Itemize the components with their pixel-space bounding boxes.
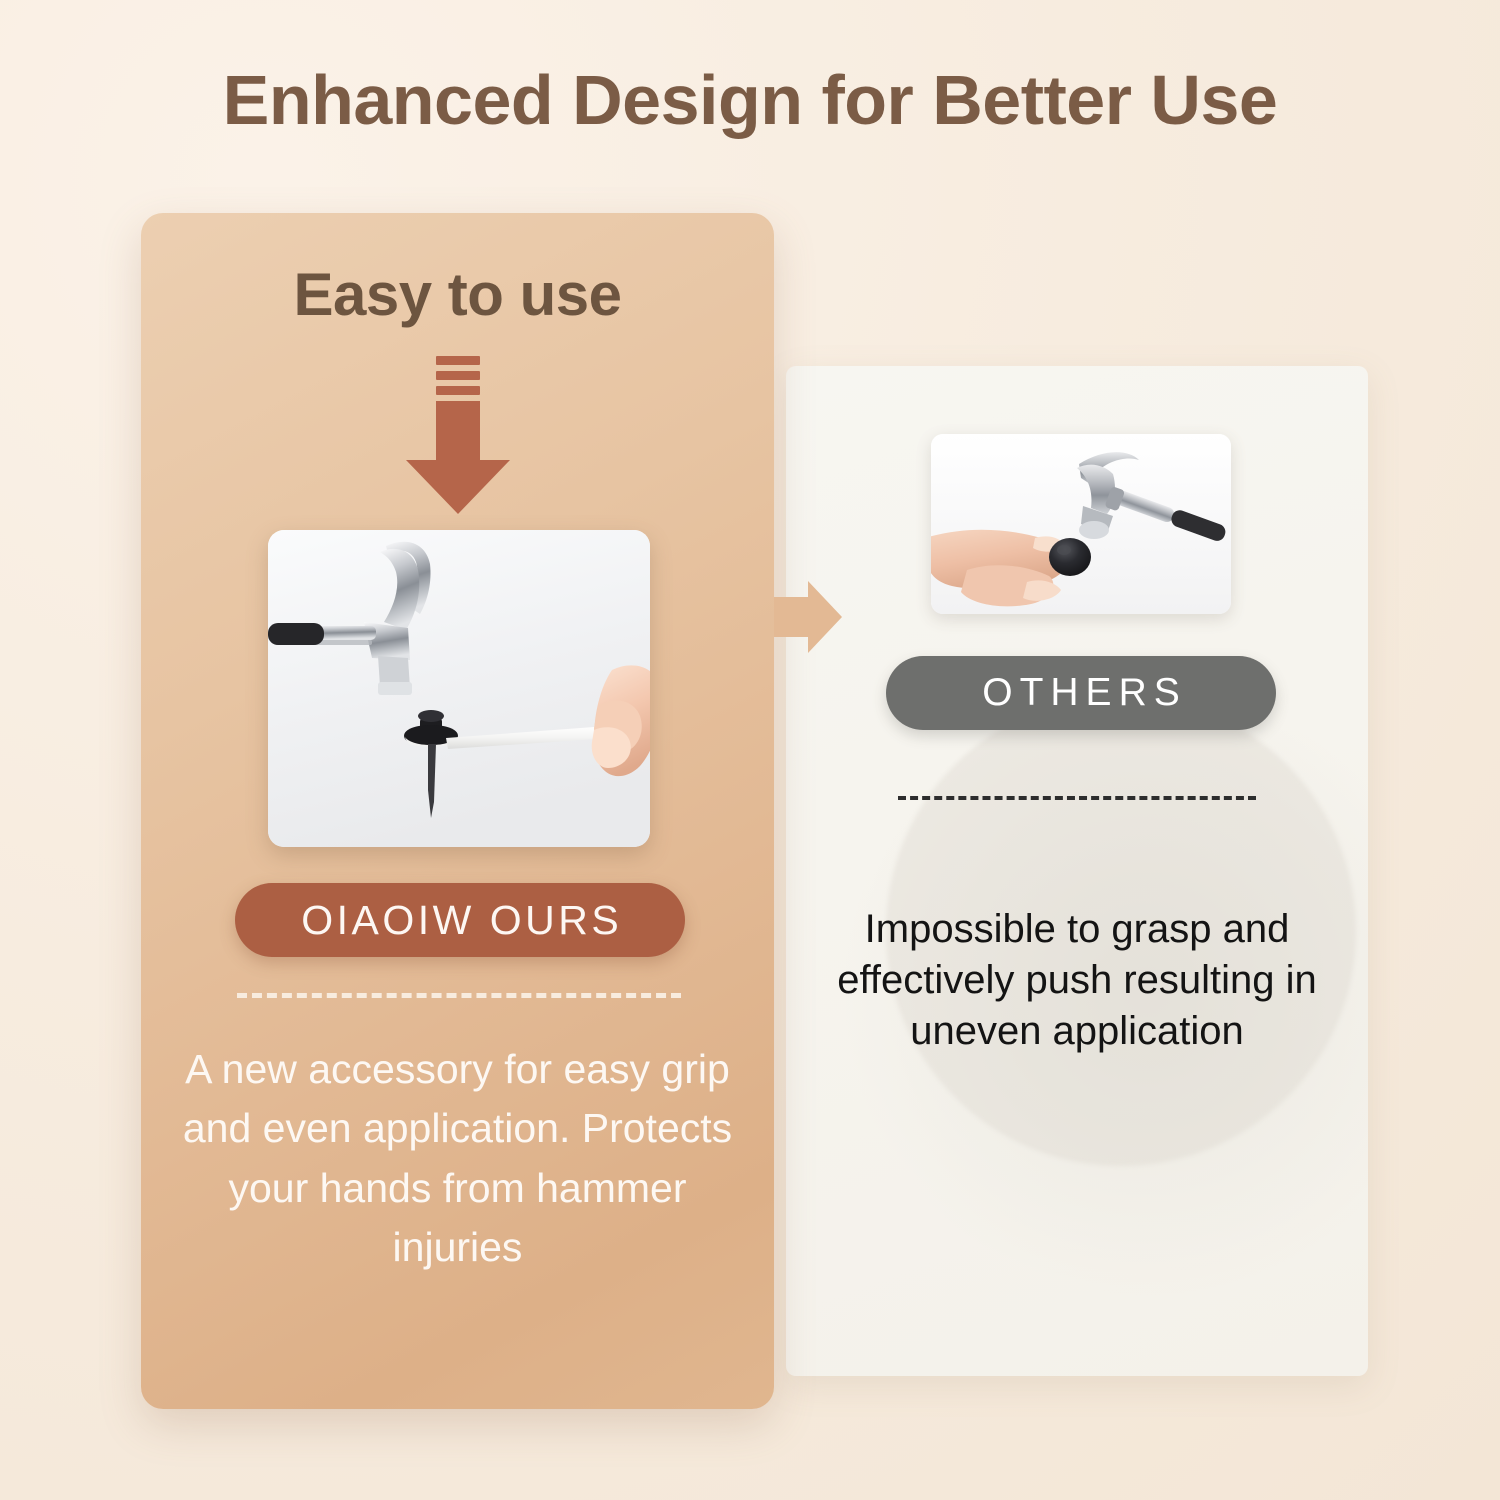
down-arrow-icon [396, 356, 520, 516]
ours-badge-label: OIAOIW OURS [298, 897, 622, 944]
ours-product-photo [268, 530, 650, 847]
ours-badge: OIAOIW OURS [235, 883, 685, 957]
others-dashed-divider [898, 796, 1256, 800]
right-pointing-arrow-icon [774, 579, 842, 655]
others-badge: OTHERS [886, 656, 1276, 730]
page-title: Enhanced Design for Better Use [0, 62, 1500, 139]
others-product-photo [931, 434, 1231, 614]
others-body-text: Impossible to grasp and effectively push… [824, 904, 1330, 1058]
ours-body-text: A new accessory for easy grip and even a… [169, 1040, 746, 1278]
ours-dashed-divider [237, 993, 681, 998]
ours-panel: Easy to use [141, 213, 774, 1409]
ours-heading: Easy to use [141, 260, 774, 329]
others-badge-label: OTHERS [975, 671, 1187, 715]
others-panel: OTHERS Impossible to grasp and effective… [786, 366, 1368, 1376]
